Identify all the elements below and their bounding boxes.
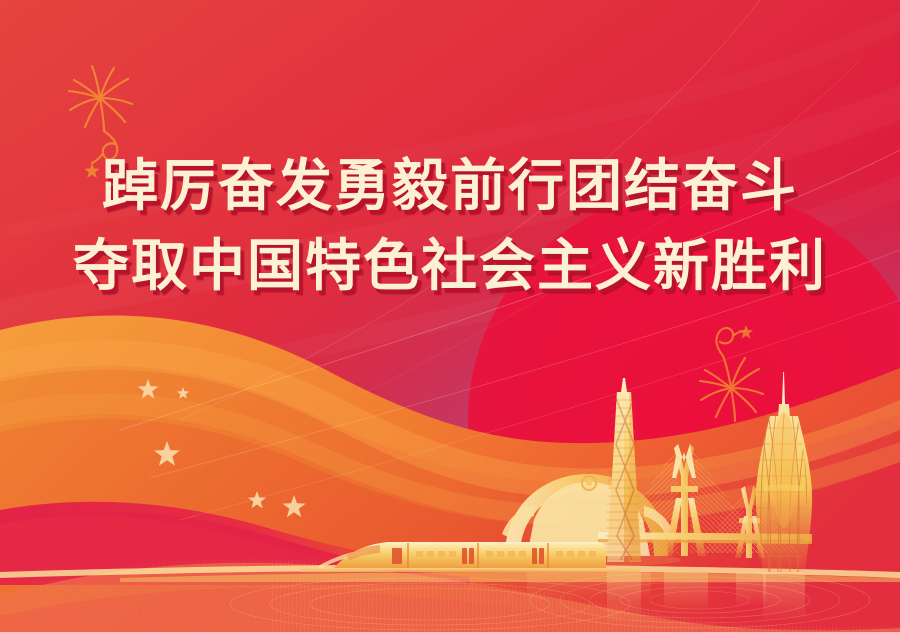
star (177, 387, 189, 399)
headline-line-1: 踔厉奋发勇毅前行团结奋斗 (0, 150, 900, 224)
headline-line-2: 夺取中国特色社会主义新胜利 (0, 230, 900, 304)
arena-dome (0, 0, 900, 632)
star (248, 491, 266, 508)
cable-stayed-bridge (0, 0, 900, 632)
firework-mid-right (0, 0, 900, 632)
firework-top-left (0, 0, 900, 632)
canton-tower (0, 0, 900, 632)
star (154, 441, 180, 466)
orange-wave-ribbons (0, 0, 900, 632)
background-layer (0, 0, 900, 632)
high-speed-train (0, 0, 900, 632)
horizon-glow (0, 0, 900, 632)
skyline-reflection (0, 0, 900, 632)
crimson-sun-circle (0, 0, 900, 632)
star-decorations (0, 0, 900, 632)
light-ray-lines (0, 0, 900, 632)
ping-an-tower (0, 0, 900, 632)
star (283, 495, 306, 517)
poster-canvas: 踔厉奋发勇毅前行团结奋斗 夺取中国特色社会主义新胜利 (0, 0, 900, 632)
headline-block: 踔厉奋发勇毅前行团结奋斗 夺取中国特色社会主义新胜利 (0, 150, 900, 304)
star (138, 379, 158, 399)
